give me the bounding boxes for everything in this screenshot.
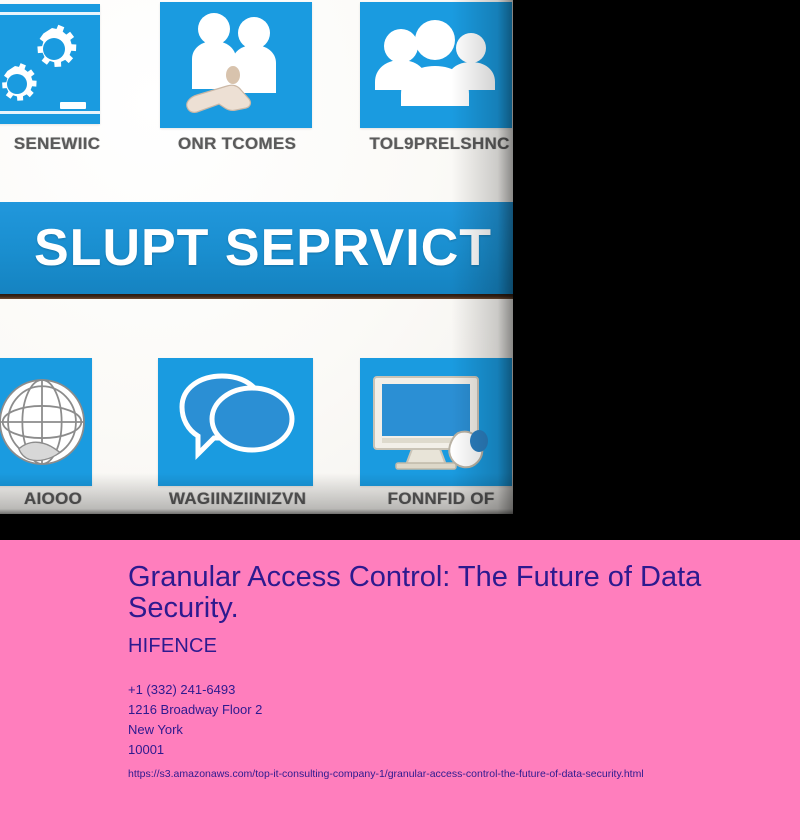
brand-name: HIFENCE (128, 635, 760, 658)
hero-illustration: SENEWIIC ONR TCOMES (0, 0, 513, 514)
globe-grid-icon (0, 358, 92, 486)
monitor-mouse-icon (360, 358, 512, 486)
contact-city: New York (128, 720, 760, 740)
contact-phone: +1 (332) 241-6493 (128, 680, 760, 700)
tile-handshake-people (160, 2, 312, 128)
hero-banner-underline (0, 294, 513, 299)
hero-banner-text: SLUPT SEPRVICT (0, 218, 492, 278)
tile-label-2: TOL9PRELSHNC (352, 134, 513, 154)
gears-settings-icon (0, 4, 100, 124)
info-panel: Granular Access Control: The Future of D… (0, 540, 800, 840)
contact-street: 1216 Broadway Floor 2 (128, 700, 760, 720)
tile-label-1: ONR TCOMES (152, 134, 322, 154)
source-url-link[interactable]: https://s3.amazonaws.com/top-it-consulti… (128, 768, 760, 780)
tile-label-3: AIOOO (0, 489, 128, 509)
group-people-icon (360, 2, 512, 128)
tile-gears-settings (0, 4, 100, 124)
letterbox-bottom (0, 514, 800, 540)
tile-label-4: WAGIINZIINIZVN (150, 489, 325, 509)
tile-globe (0, 358, 92, 486)
letterbox-right (513, 0, 800, 514)
tile-group-people (360, 2, 512, 128)
speech-bubbles-icon (158, 358, 313, 486)
contact-block: +1 (332) 241-6493 1216 Broadway Floor 2 … (128, 680, 760, 760)
hero-banner: SLUPT SEPRVICT (0, 202, 513, 294)
tile-label-5: FONNFID OF (352, 489, 513, 509)
info-panel-content: Granular Access Control: The Future of D… (128, 562, 760, 780)
tile-monitor-mouse (360, 358, 512, 486)
contact-zip: 10001 (128, 740, 760, 760)
page-title: Granular Access Control: The Future of D… (128, 562, 713, 623)
tile-label-0: SENEWIIC (0, 134, 132, 154)
tile-speech-bubbles (158, 358, 313, 486)
handshake-people-icon (160, 2, 312, 128)
